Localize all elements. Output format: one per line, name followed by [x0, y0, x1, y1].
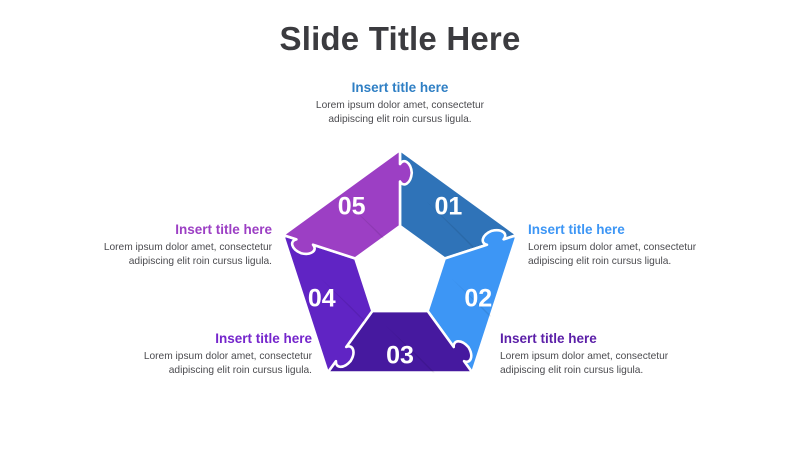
pentagon-puzzle-diagram: 0102030405: [250, 135, 550, 397]
callout-05: Insert title here Lorem ipsum dolor amet…: [92, 222, 272, 269]
callout-01-title: Insert title here: [292, 80, 508, 97]
puzzle-piece-number-03: 03: [386, 341, 414, 369]
puzzle-piece-number-01: 01: [434, 192, 462, 220]
callout-05-body: Lorem ipsum dolor amet, consectetur adip…: [92, 241, 272, 269]
puzzle-piece-number-02: 02: [464, 284, 492, 312]
puzzle-svg: 0102030405: [250, 135, 550, 397]
callout-02-title: Insert title here: [528, 222, 708, 239]
slide-canvas: Slide Title Here Insert title here Lorem…: [0, 0, 800, 450]
puzzle-piece-number-04: 04: [308, 284, 336, 312]
page-title: Slide Title Here: [0, 20, 800, 58]
callout-02-body: Lorem ipsum dolor amet, consectetur adip…: [528, 241, 708, 269]
puzzle-piece-number-05: 05: [338, 192, 366, 220]
callout-01-body: Lorem ipsum dolor amet, consectetur adip…: [292, 99, 508, 127]
callout-05-title: Insert title here: [92, 222, 272, 239]
callout-02: Insert title here Lorem ipsum dolor amet…: [528, 222, 708, 269]
callout-01: Insert title here Lorem ipsum dolor amet…: [292, 80, 508, 127]
